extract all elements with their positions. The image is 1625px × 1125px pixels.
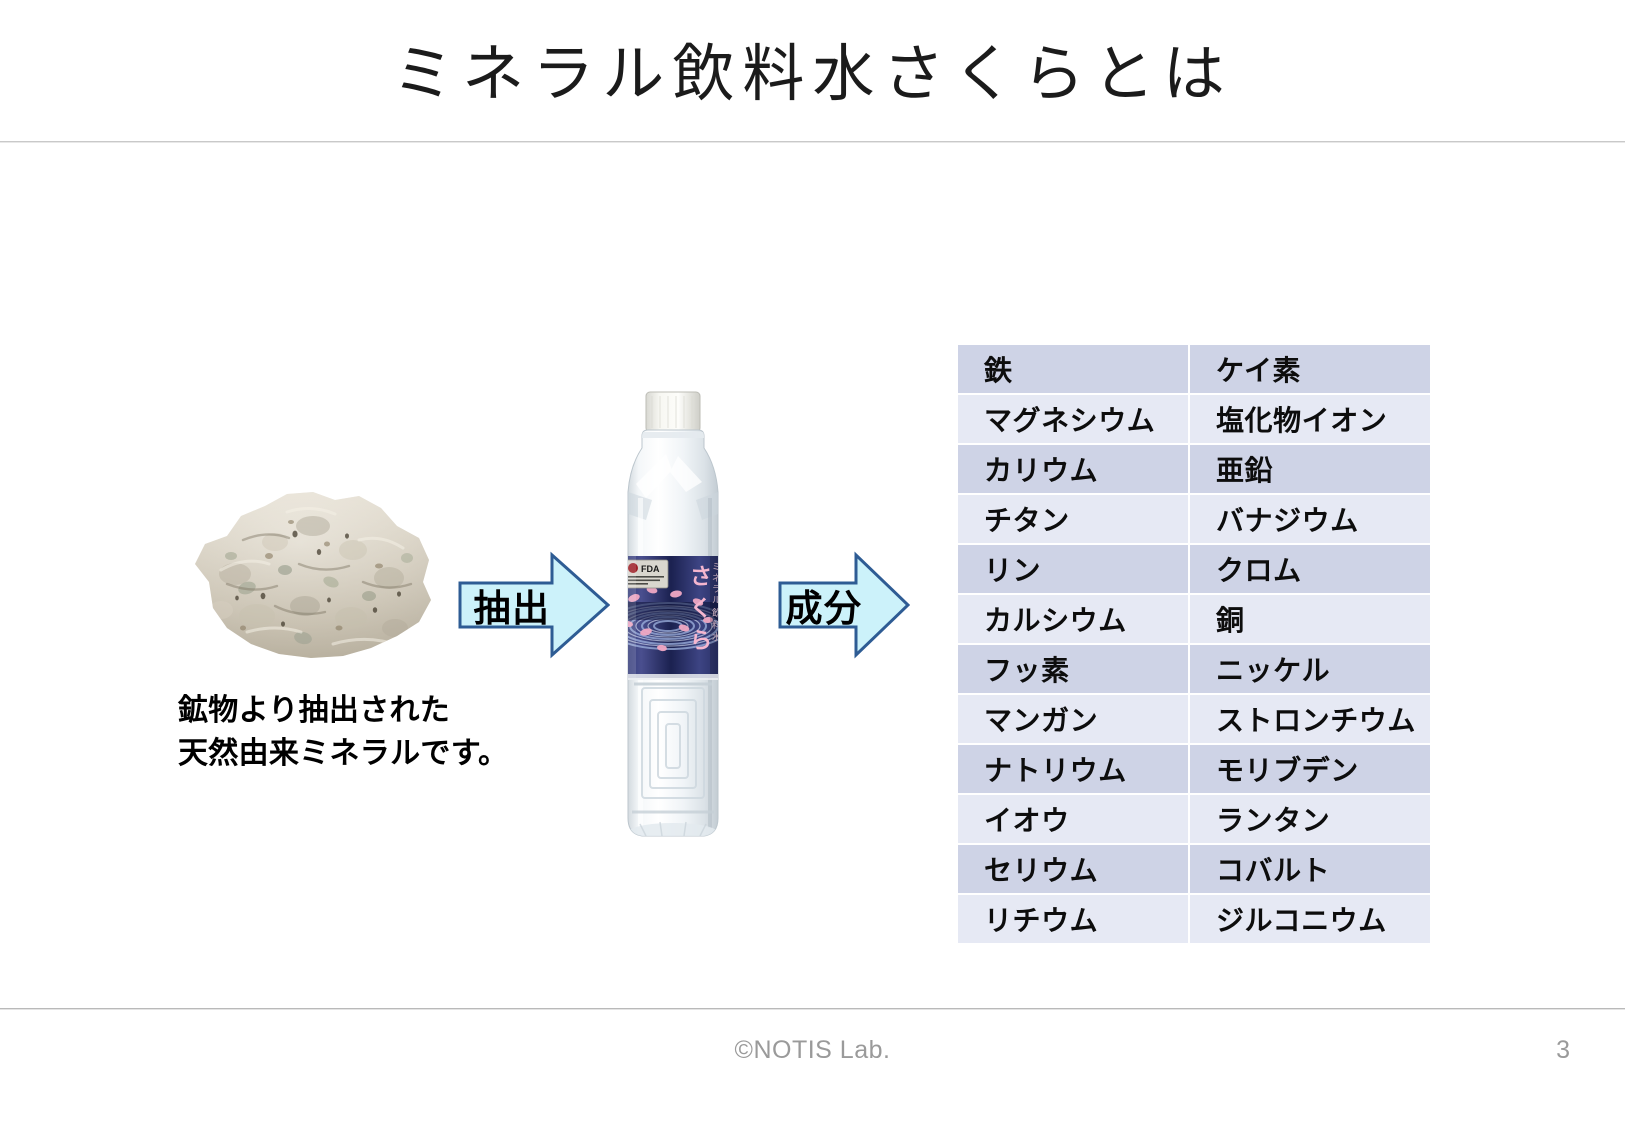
mineral-cell: 塩化物イオン [1190, 395, 1430, 445]
mineral-cell: リン [958, 545, 1190, 595]
arrow-extract-label: 抽出 [458, 551, 566, 659]
mineral-cell: ニッケル [1190, 645, 1430, 695]
mineral-cell: カルシウム [958, 595, 1190, 645]
page-title: ミネラル飲料水さくらとは [0, 38, 1625, 109]
mineral-cell: ジルコニウム [1190, 895, 1430, 943]
mineral-cell: ランタン [1190, 795, 1430, 845]
mineral-cell: セリウム [958, 845, 1190, 895]
mineral-cell: ストロンチウム [1190, 695, 1430, 745]
table-row: リチウム ジルコニウム [958, 895, 1430, 943]
mineral-cell: イオウ [958, 795, 1190, 845]
mineral-cell: バナジウム [1190, 495, 1430, 545]
table-row: 鉄 ケイ素 [958, 345, 1430, 395]
mineral-cell: カリウム [958, 445, 1190, 495]
arrow-components-label: 成分 [778, 551, 870, 659]
table-row: カルシウム 銅 [958, 595, 1430, 645]
mineral-cell: モリブデン [1190, 745, 1430, 795]
water-bottle-photo: FDA さ く ら ミ ネ [612, 388, 734, 840]
table-row: セリウム コバルト [958, 845, 1430, 895]
mineral-cell: 銅 [1190, 595, 1430, 645]
footer-divider-shadow [0, 1009, 1625, 1010]
table-row: マグネシウム 塩化物イオン [958, 395, 1430, 445]
svg-text:く: く [690, 597, 712, 622]
page-number: 3 [1556, 1036, 1570, 1065]
rock-caption: 鉱物より抽出された 天然由来ミネラルです。 [178, 690, 598, 775]
mineral-cell: ケイ素 [1190, 345, 1430, 395]
minerals-table-body: 鉄 ケイ素 マグネシウム 塩化物イオン カリウム 亜鉛 チタン バナジウム リン… [958, 345, 1430, 943]
mineral-cell: リチウム [958, 895, 1190, 943]
svg-text:さ: さ [690, 565, 712, 590]
slide-canvas: ミネラル飲料水さくらとは [0, 0, 1625, 1125]
mineral-cell: クロム [1190, 545, 1430, 595]
minerals-table: 鉄 ケイ素 マグネシウム 塩化物イオン カリウム 亜鉛 チタン バナジウム リン… [958, 345, 1430, 943]
table-row: ナトリウム モリブデン [958, 745, 1430, 795]
mineral-cell: チタン [958, 495, 1190, 545]
mineral-cell: マグネシウム [958, 395, 1190, 445]
footer-credit: ©NOTIS Lab. [0, 1036, 1625, 1065]
mineral-cell: 鉄 [958, 345, 1190, 395]
table-row: マンガン ストロンチウム [958, 695, 1430, 745]
svg-text:ら: ら [690, 629, 712, 654]
arrow-extract: 抽出 [458, 551, 610, 659]
table-row: リン クロム [958, 545, 1430, 595]
mineral-cell: ナトリウム [958, 745, 1190, 795]
mineral-rock-photo [183, 478, 443, 663]
arrow-components: 成分 [778, 551, 910, 659]
header-divider-shadow [0, 142, 1625, 143]
table-row: カリウム 亜鉛 [958, 445, 1430, 495]
table-row: フッ素 ニッケル [958, 645, 1430, 695]
mineral-cell: コバルト [1190, 845, 1430, 895]
mineral-cell: 亜鉛 [1190, 445, 1430, 495]
mineral-cell: フッ素 [958, 645, 1190, 695]
table-row: チタン バナジウム [958, 495, 1430, 545]
mineral-cell: マンガン [958, 695, 1190, 745]
table-row: イオウ ランタン [958, 795, 1430, 845]
svg-text:FDA: FDA [641, 564, 660, 574]
